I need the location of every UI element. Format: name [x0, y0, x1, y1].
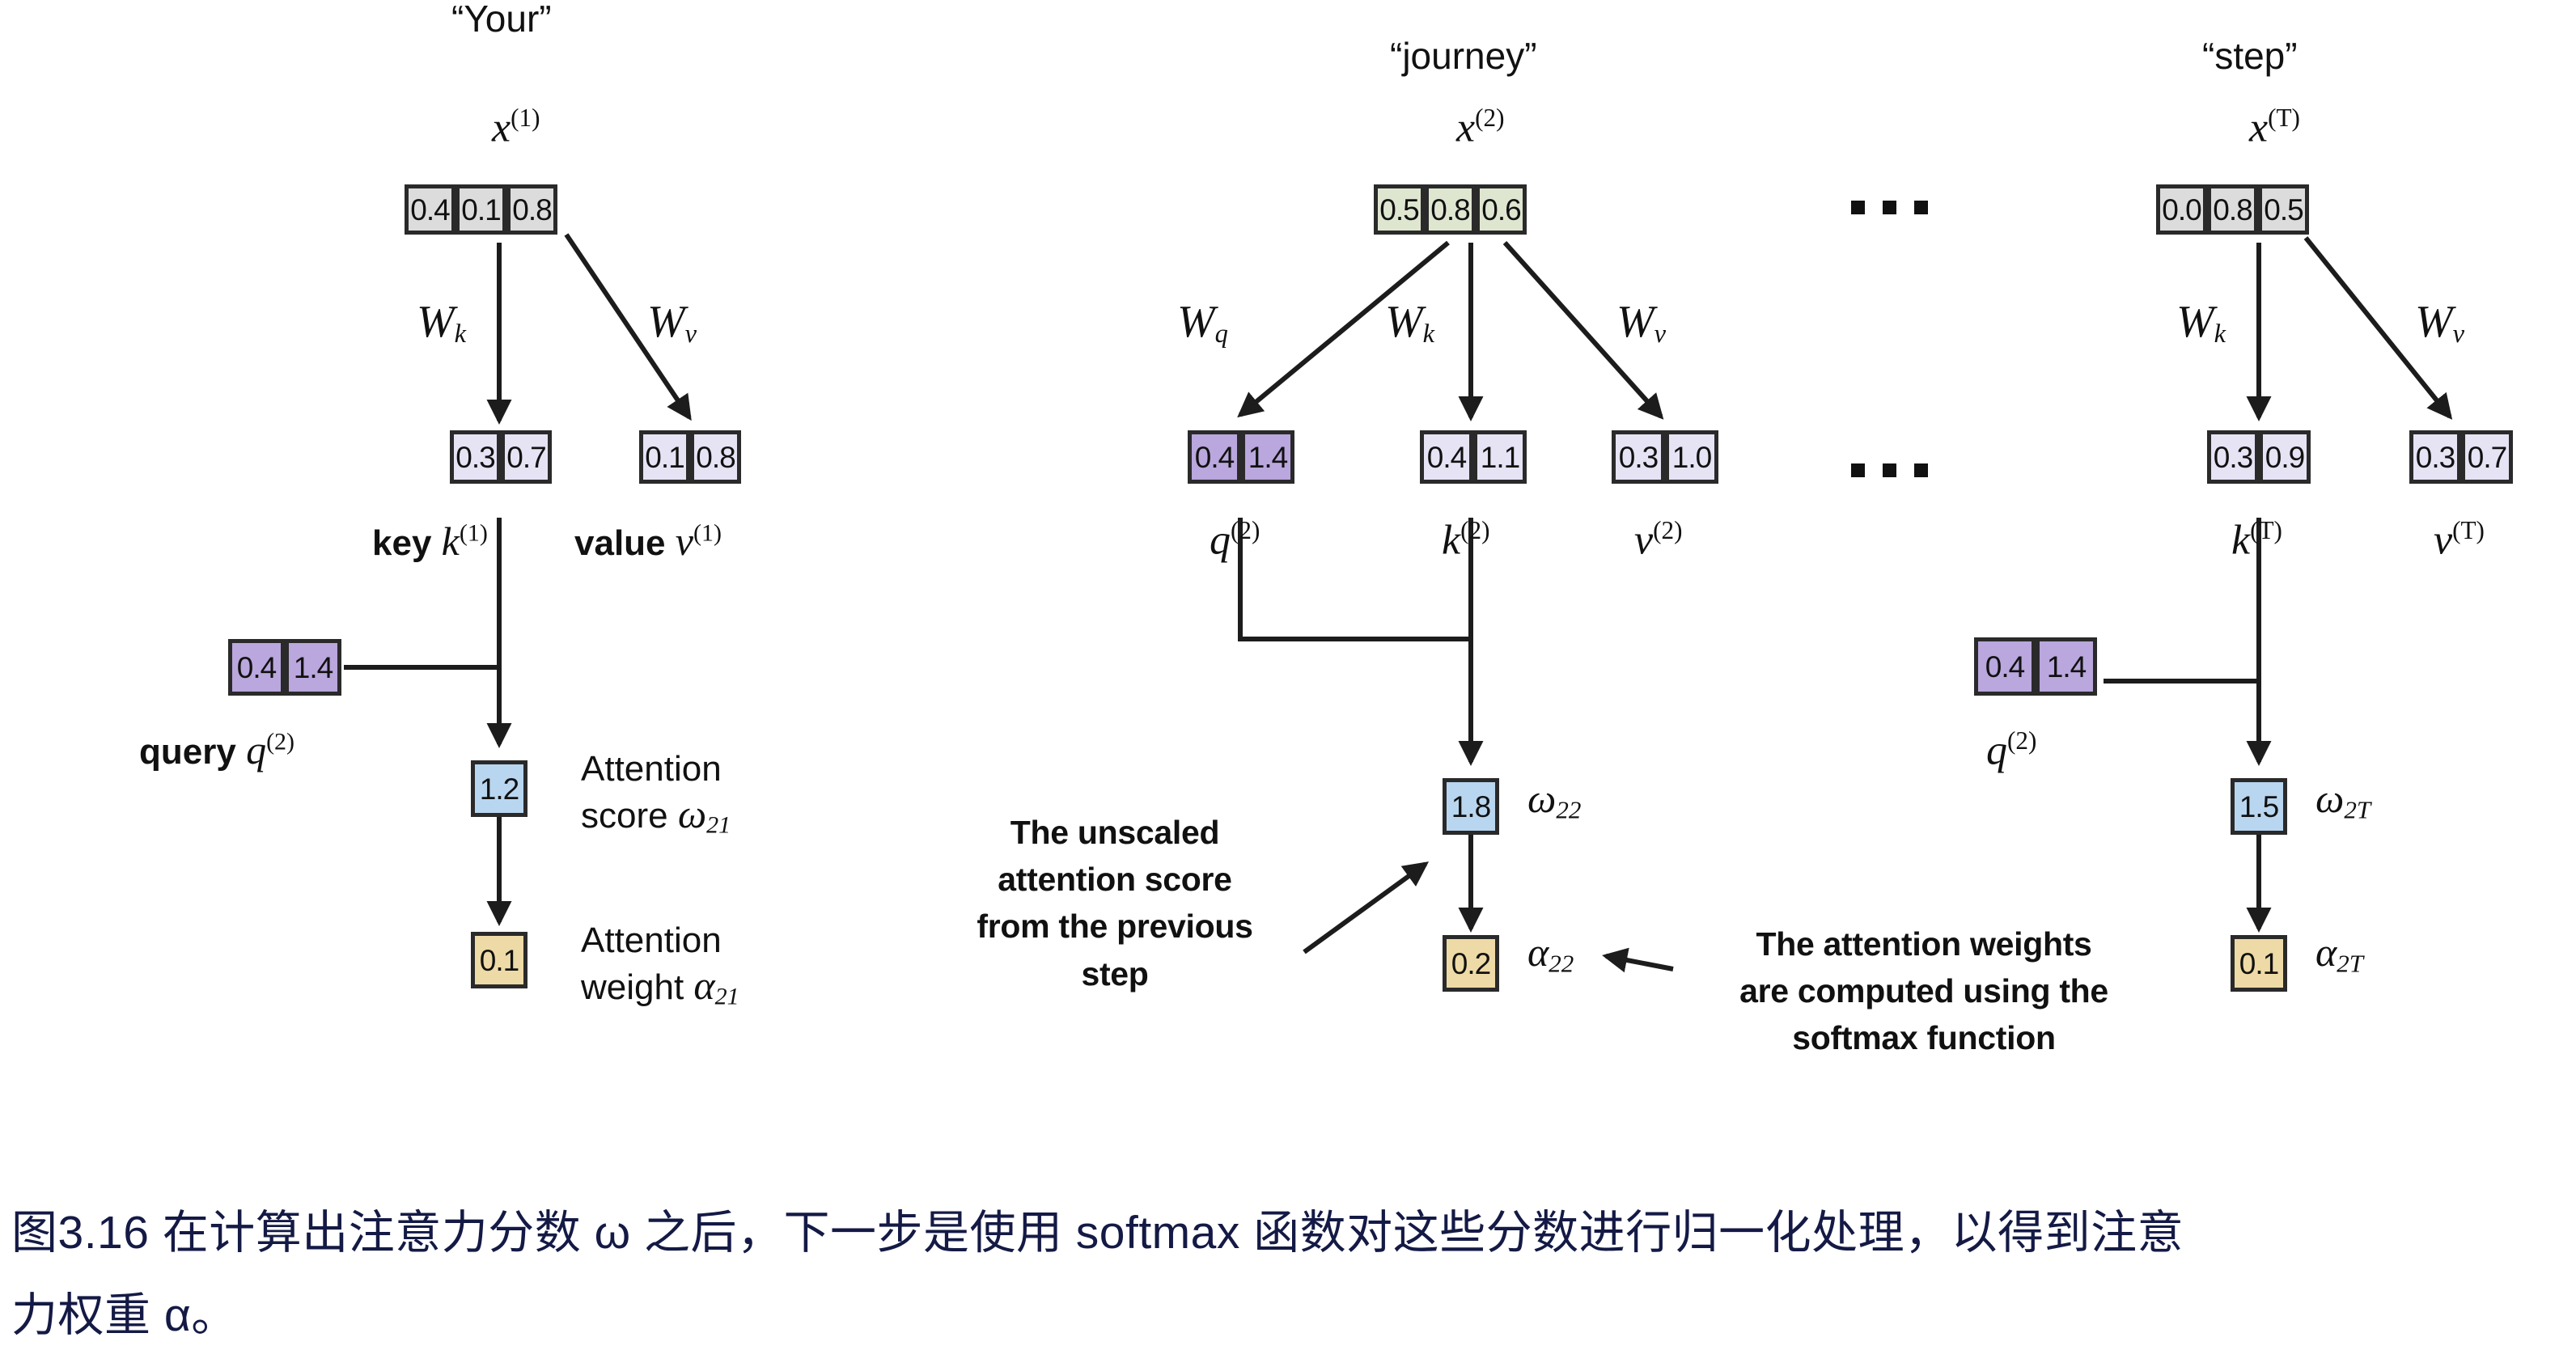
col2-weight-box: 0.2	[1443, 935, 1499, 992]
col2-weight-wq: Wq	[1177, 299, 1228, 348]
col1-query-vector: 0.4 1.4	[228, 639, 341, 696]
col3-k-cell-0: 0.3	[2207, 430, 2259, 484]
ellipsis-bottom	[1851, 463, 1928, 477]
col3-v-vector: 0.3 0.7	[2409, 430, 2513, 484]
col1-weight-label: Attention weight α21	[581, 920, 739, 1011]
softmax-annotation: The attention weights are computed using…	[1681, 921, 2167, 1062]
col2-v-vector: 0.3 1.0	[1612, 430, 1718, 484]
col1-input-symbol: x(1)	[492, 105, 540, 149]
figure-caption-line-2: 力权重 α。	[11, 1280, 238, 1351]
col2-score-cell: 1.8	[1443, 778, 1499, 835]
col2-weight-cell: 0.2	[1443, 935, 1499, 992]
col1-key-label: key k(1)	[372, 518, 488, 565]
col2-q-cell-0: 0.4	[1188, 430, 1241, 484]
col2-k-cell-0: 0.4	[1420, 430, 1473, 484]
col1-input-cell-1: 0.1	[455, 184, 506, 235]
col3-weight-wk: Wk	[2176, 299, 2226, 348]
col3-query-label: q(2)	[1986, 728, 2036, 772]
col1-weight-wv: Wv	[647, 299, 697, 348]
figure-caption-line-1: 图3.16 在计算出注意力分数 ω 之后，下一步是使用 softmax 函数对这…	[11, 1197, 2184, 1268]
col2-v-cell-0: 0.3	[1612, 430, 1665, 484]
col1-score-cell: 1.2	[471, 760, 527, 817]
col2-input-cell-1: 0.8	[1425, 184, 1476, 235]
col1-key-vector: 0.3 0.7	[450, 430, 552, 484]
col2-k-label: k(2)	[1442, 518, 1489, 561]
col3-k-cell-1: 0.9	[2259, 430, 2311, 484]
col2-q-label: q(2)	[1210, 518, 1260, 561]
col3-query-vector: 0.4 1.4	[1974, 637, 2097, 696]
col1-value-label: value v(1)	[574, 518, 722, 565]
col1-input-cell-2: 0.8	[506, 184, 557, 235]
col1-key-cell-1: 0.7	[501, 430, 552, 484]
col1-query-label: query q(2)	[139, 726, 294, 774]
col1-value-cell-0: 0.1	[639, 430, 690, 484]
col3-input-cell-2: 0.5	[2258, 184, 2309, 235]
col3-score-symbol: ω2T	[2315, 778, 2371, 822]
col2-input-vector: 0.5 0.8 0.6	[1374, 184, 1527, 235]
col2-input-cell-2: 0.6	[1476, 184, 1527, 235]
col3-k-label: k(T)	[2231, 518, 2282, 561]
col3-input-cell-0: 0.0	[2156, 184, 2207, 235]
col2-input-symbol: x(2)	[1456, 105, 1504, 149]
col1-weight-wk: Wk	[417, 299, 466, 348]
ellipsis-top	[1851, 201, 1928, 214]
col3-word-label: “step”	[2202, 34, 2298, 78]
col1-value-cell-1: 0.8	[690, 430, 741, 484]
col1-key-cell-0: 0.3	[450, 430, 501, 484]
col3-k-vector: 0.3 0.9	[2207, 430, 2311, 484]
col2-input-cell-0: 0.5	[1374, 184, 1425, 235]
col3-v-cell-0: 0.3	[2409, 430, 2461, 484]
col1-score-label: Attention score ω21	[581, 748, 731, 840]
col3-weight-wv: Wv	[2415, 299, 2464, 348]
col3-v-cell-1: 0.7	[2461, 430, 2513, 484]
col2-v-label: v(2)	[1634, 518, 1682, 561]
col3-input-cell-1: 0.8	[2207, 184, 2258, 235]
col2-weight-wv: Wv	[1616, 299, 1666, 348]
col1-query-cell-0: 0.4	[228, 639, 285, 696]
col2-score-box: 1.8	[1443, 778, 1499, 835]
col1-word-label: “Your”	[451, 0, 552, 40]
col2-q-cell-1: 1.4	[1241, 430, 1294, 484]
col3-weight-box: 0.1	[2231, 935, 2287, 992]
col2-weight-symbol: α22	[1527, 932, 1574, 976]
col3-score-cell: 1.5	[2231, 778, 2287, 835]
col1-query-cell-1: 1.4	[285, 639, 341, 696]
col2-weight-wk: Wk	[1385, 299, 1434, 348]
col2-k-vector: 0.4 1.1	[1420, 430, 1527, 484]
col3-query-cell-1: 1.4	[2036, 637, 2097, 696]
col1-input-cell-0: 0.4	[405, 184, 455, 235]
col3-score-box: 1.5	[2231, 778, 2287, 835]
unscaled-score-annotation: The unscaled attention score from the pr…	[937, 809, 1293, 997]
col2-word-label: “journey”	[1390, 34, 1537, 78]
col1-weight-box: 0.1	[471, 932, 527, 988]
col3-input-vector: 0.0 0.8 0.5	[2156, 184, 2309, 235]
col3-v-label: v(T)	[2434, 518, 2485, 561]
col2-k-cell-1: 1.1	[1473, 430, 1527, 484]
col1-value-vector: 0.1 0.8	[639, 430, 741, 484]
col3-input-symbol: x(T)	[2249, 105, 2300, 149]
figure-canvas: “Your” x(1) 0.4 0.1 0.8 Wk Wv 0.3 0.7 ke…	[0, 0, 2576, 1367]
col1-input-vector: 0.4 0.1 0.8	[405, 184, 557, 235]
col3-weight-symbol: α2T	[2315, 932, 2363, 976]
col2-v-cell-1: 1.0	[1665, 430, 1718, 484]
col1-weight-cell: 0.1	[471, 932, 527, 988]
col2-q-vector: 0.4 1.4	[1188, 430, 1294, 484]
col3-weight-cell: 0.1	[2231, 935, 2287, 992]
col2-score-symbol: ω22	[1527, 778, 1581, 822]
col1-score-box: 1.2	[471, 760, 527, 817]
col3-query-cell-0: 0.4	[1974, 637, 2036, 696]
